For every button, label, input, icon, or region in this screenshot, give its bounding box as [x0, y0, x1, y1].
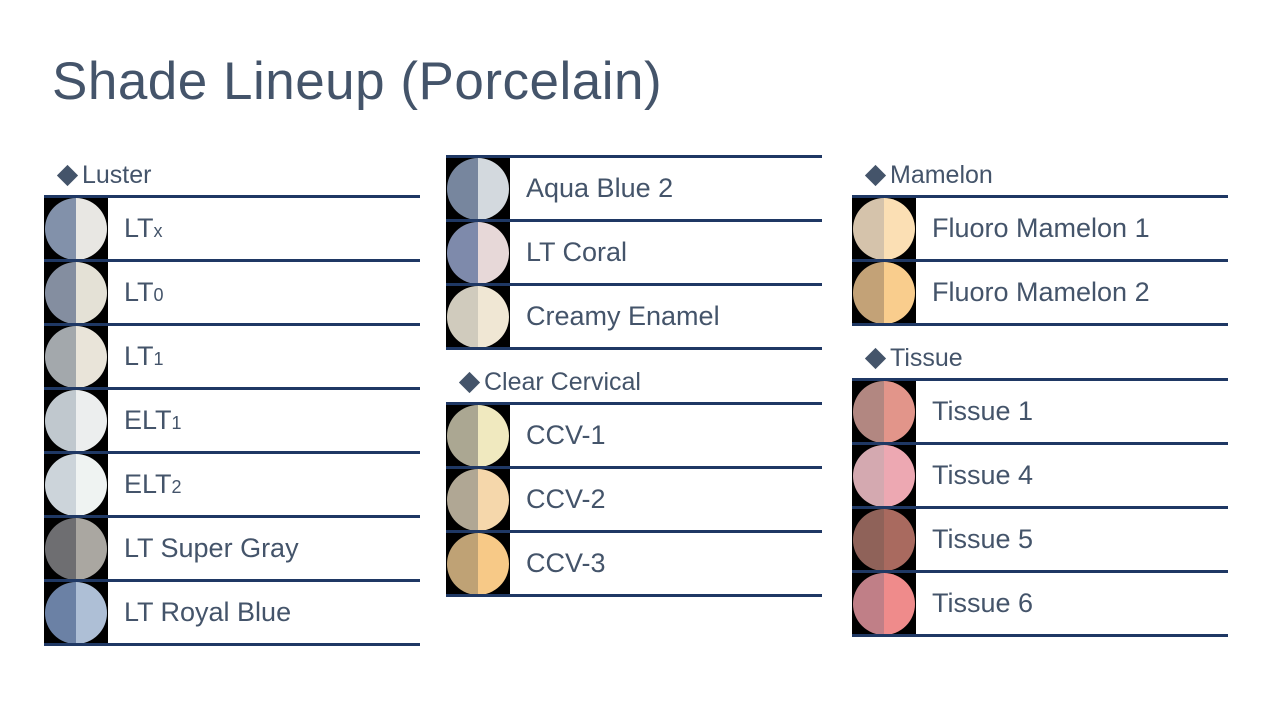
- group-header-clear-cervical: Clear Cervical: [446, 362, 822, 402]
- diamond-icon: [57, 164, 78, 185]
- shade-label: LT Super Gray: [124, 535, 299, 562]
- shade-row[interactable]: CCV-3: [446, 533, 822, 597]
- shade-label: Tissue 4: [932, 462, 1033, 489]
- shade-row-list: LTxLT0LT1ELT1ELT2LT Super GrayLT Royal B…: [44, 195, 420, 646]
- shade-label-text: LT Royal Blue: [124, 597, 291, 627]
- shade-column-middle: Aqua Blue 2LT CoralCreamy EnamelClear Ce…: [446, 155, 822, 597]
- shade-swatch: [45, 198, 107, 260]
- diamond-icon: [459, 371, 480, 392]
- group-header-luster: Luster: [44, 155, 420, 195]
- shade-row-list: Tissue 1Tissue 4Tissue 5Tissue 6: [852, 378, 1228, 637]
- shade-label-subscript: 0: [154, 285, 164, 305]
- group-header-tissue: Tissue: [852, 338, 1228, 378]
- shade-label-text: CCV-1: [526, 420, 606, 450]
- shade-swatch: [447, 286, 509, 348]
- shade-swatch: [447, 222, 509, 284]
- shade-swatch: [853, 262, 915, 324]
- shade-row[interactable]: Creamy Enamel: [446, 286, 822, 350]
- group-title: Clear Cervical: [484, 370, 641, 395]
- shade-label-text: Fluoro Mamelon 1: [932, 213, 1150, 243]
- group-title: Tissue: [890, 346, 963, 371]
- shade-row[interactable]: LT Super Gray: [44, 518, 420, 582]
- shade-label: LTx: [124, 215, 163, 242]
- shade-label-text: Tissue 4: [932, 460, 1033, 490]
- shade-label: LT Royal Blue: [124, 599, 291, 626]
- shade-label-text: Fluoro Mamelon 2: [932, 277, 1150, 307]
- shade-group-luster: LusterLTxLT0LT1ELT1ELT2LT Super GrayLT R…: [44, 155, 420, 646]
- shade-label-subscript: 1: [172, 413, 182, 433]
- shade-row[interactable]: Tissue 4: [852, 445, 1228, 509]
- shade-row[interactable]: Aqua Blue 2: [446, 158, 822, 222]
- shade-row[interactable]: Tissue 6: [852, 573, 1228, 637]
- shade-swatch: [447, 533, 509, 595]
- shade-label-text: ELT: [124, 469, 172, 499]
- shade-row[interactable]: Tissue 5: [852, 509, 1228, 573]
- shade-label-text: CCV-2: [526, 484, 606, 514]
- shade-label: Fluoro Mamelon 2: [932, 279, 1150, 306]
- shade-swatch: [45, 582, 107, 644]
- shade-label: ELT1: [124, 407, 182, 434]
- shade-swatch: [853, 573, 915, 635]
- shade-label-text: LT Super Gray: [124, 533, 299, 563]
- shade-swatch: [45, 326, 107, 388]
- shade-group-mamelon: MamelonFluoro Mamelon 1Fluoro Mamelon 2: [852, 155, 1228, 326]
- shade-row-list: Aqua Blue 2LT CoralCreamy Enamel: [446, 155, 822, 350]
- shade-label-text: LT: [124, 277, 154, 307]
- shade-row[interactable]: LT0: [44, 262, 420, 326]
- shade-label: LT1: [124, 343, 164, 370]
- shade-label-text: Aqua Blue 2: [526, 173, 673, 203]
- shade-label: Tissue 1: [932, 398, 1033, 425]
- shade-label: Tissue 5: [932, 526, 1033, 553]
- diamond-icon: [865, 347, 886, 368]
- shade-swatch: [853, 445, 915, 507]
- slide-root: { "title": "Shade Lineup (Porcelain)", "…: [0, 0, 1263, 708]
- shade-label-text: Tissue 5: [932, 524, 1033, 554]
- shade-row[interactable]: Fluoro Mamelon 2: [852, 262, 1228, 326]
- group-title: Luster: [82, 163, 151, 188]
- shade-label-text: CCV-3: [526, 548, 606, 578]
- shade-label-text: Tissue 6: [932, 588, 1033, 618]
- shade-label-text: LT: [124, 341, 154, 371]
- shade-row[interactable]: CCV-2: [446, 469, 822, 533]
- shade-label: Creamy Enamel: [526, 303, 720, 330]
- shade-swatch: [447, 405, 509, 467]
- shade-label: CCV-1: [526, 422, 606, 449]
- shade-column-left: LusterLTxLT0LT1ELT1ELT2LT Super GrayLT R…: [44, 155, 420, 646]
- shade-label-text: LT: [124, 213, 154, 243]
- shade-label: LT Coral: [526, 239, 627, 266]
- shade-swatch: [853, 509, 915, 571]
- shade-label-text: ELT: [124, 405, 172, 435]
- shade-swatch: [45, 518, 107, 580]
- diamond-icon: [865, 164, 886, 185]
- shade-label-subscript: x: [154, 221, 163, 241]
- shade-label-subscript: 1: [154, 349, 164, 369]
- shade-swatch: [45, 454, 107, 516]
- page-title: Shade Lineup (Porcelain): [52, 50, 662, 114]
- shade-row[interactable]: LTx: [44, 198, 420, 262]
- shade-swatch: [447, 158, 509, 220]
- shade-label-text: LT Coral: [526, 237, 627, 267]
- shade-label: CCV-3: [526, 550, 606, 577]
- shade-row[interactable]: Fluoro Mamelon 1: [852, 198, 1228, 262]
- shade-swatch: [45, 262, 107, 324]
- shade-row[interactable]: Tissue 1: [852, 381, 1228, 445]
- shade-swatch: [853, 198, 915, 260]
- shade-group-clear-cervical: Clear CervicalCCV-1CCV-2CCV-3: [446, 362, 822, 597]
- shade-label: Tissue 6: [932, 590, 1033, 617]
- shade-label: Aqua Blue 2: [526, 175, 673, 202]
- shade-row-list: Fluoro Mamelon 1Fluoro Mamelon 2: [852, 195, 1228, 326]
- shade-swatch: [853, 381, 915, 443]
- shade-swatch: [447, 469, 509, 531]
- shade-label-text: Creamy Enamel: [526, 301, 720, 331]
- group-header-mamelon: Mamelon: [852, 155, 1228, 195]
- shade-row[interactable]: ELT2: [44, 454, 420, 518]
- shade-label: Fluoro Mamelon 1: [932, 215, 1150, 242]
- shade-group-continued: Aqua Blue 2LT CoralCreamy Enamel: [446, 155, 822, 350]
- shade-label: ELT2: [124, 471, 182, 498]
- shade-row[interactable]: ELT1: [44, 390, 420, 454]
- shade-row[interactable]: LT Coral: [446, 222, 822, 286]
- shade-label-text: Tissue 1: [932, 396, 1033, 426]
- shade-row[interactable]: LT Royal Blue: [44, 582, 420, 646]
- group-title: Mamelon: [890, 163, 993, 188]
- shade-label-subscript: 2: [172, 477, 182, 497]
- shade-swatch: [45, 390, 107, 452]
- shade-label: LT0: [124, 279, 164, 306]
- shade-column-right: MamelonFluoro Mamelon 1Fluoro Mamelon 2T…: [852, 155, 1228, 637]
- shade-row[interactable]: CCV-1: [446, 405, 822, 469]
- shade-row-list: CCV-1CCV-2CCV-3: [446, 402, 822, 597]
- shade-group-tissue: TissueTissue 1Tissue 4Tissue 5Tissue 6: [852, 338, 1228, 637]
- shade-row[interactable]: LT1: [44, 326, 420, 390]
- shade-label: CCV-2: [526, 486, 606, 513]
